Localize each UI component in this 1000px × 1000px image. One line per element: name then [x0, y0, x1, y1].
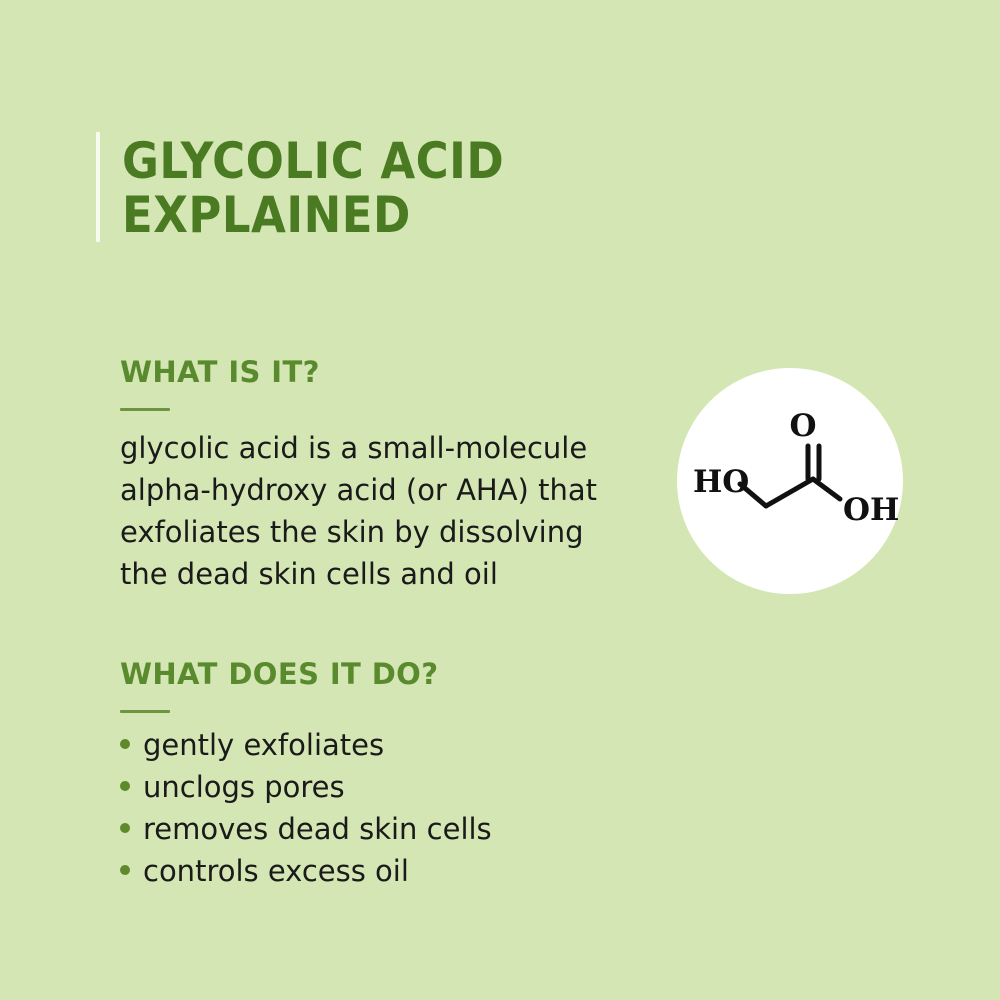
- molecule-label-o: O: [789, 408, 816, 444]
- section-divider: [120, 710, 170, 713]
- list-item: unclogs pores: [120, 771, 492, 803]
- page-title: GLYCOLIC ACID EXPLAINED: [122, 132, 504, 242]
- list-item: gently exfoliates: [120, 729, 492, 761]
- bullet-dot-icon: [120, 823, 130, 833]
- list-item-label: controls excess oil: [143, 855, 409, 887]
- list-item: controls excess oil: [120, 855, 492, 887]
- list-item: removes dead skin cells: [120, 813, 492, 845]
- section-heading-what-is-it: WHAT IS IT?: [120, 356, 597, 388]
- list-item-label: unclogs pores: [143, 771, 345, 803]
- molecule-circle-badge: HO O OH: [677, 368, 903, 594]
- molecule-label-oh: OH: [843, 492, 899, 528]
- list-item-label: gently exfoliates: [143, 729, 384, 761]
- section-what-is-it: WHAT IS IT? glycolic acid is a small-mol…: [120, 356, 597, 595]
- benefits-list: gently exfoliates unclogs pores removes …: [120, 729, 492, 887]
- section-body-what-is-it: glycolic acid is a small-molecule alpha-…: [120, 427, 597, 595]
- section-what-does-it-do: WHAT DOES IT DO? gently exfoliates unclo…: [120, 658, 492, 897]
- page-title-block: GLYCOLIC ACID EXPLAINED: [96, 132, 504, 242]
- bullet-dot-icon: [120, 865, 130, 875]
- section-heading-what-does-it-do: WHAT DOES IT DO?: [120, 658, 492, 690]
- glycolic-acid-molecule-icon: HO O OH: [677, 368, 903, 594]
- molecule-label-ho: HO: [693, 464, 749, 500]
- infographic-canvas: GLYCOLIC ACID EXPLAINED WHAT IS IT? glyc…: [0, 0, 1000, 1000]
- bullet-dot-icon: [120, 781, 130, 791]
- section-divider: [120, 408, 170, 411]
- list-item-label: removes dead skin cells: [143, 813, 492, 845]
- title-accent-bar: [96, 132, 100, 242]
- bullet-dot-icon: [120, 739, 130, 749]
